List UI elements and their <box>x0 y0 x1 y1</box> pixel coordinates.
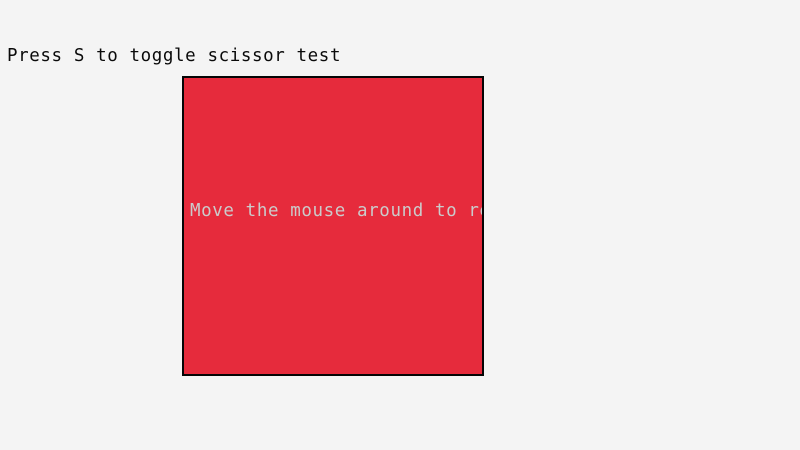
scissor-rectangle[interactable]: Move the mouse around to resize the scis… <box>182 76 484 376</box>
hint-text: Press S to toggle scissor test <box>7 45 787 67</box>
app-canvas[interactable]: Press S to toggle scissor test Move the … <box>0 0 800 450</box>
scissor-clipped-text: Move the mouse around to resize the scis… <box>190 200 484 222</box>
hint-bar: Press S to toggle scissor test <box>7 7 787 31</box>
